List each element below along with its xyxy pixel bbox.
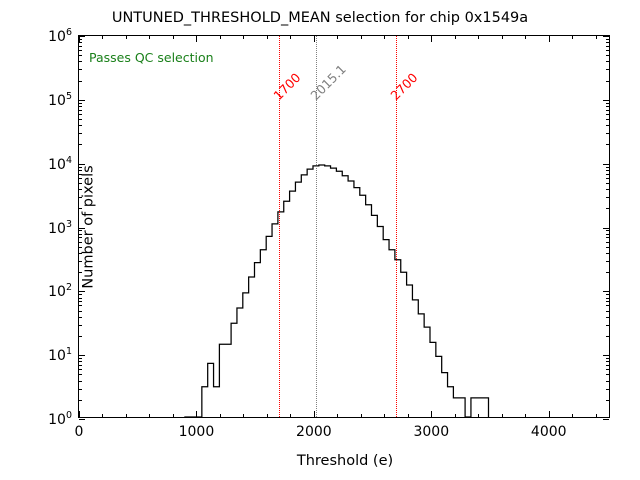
y-tick-minor-right [606,253,609,254]
y-tick-major [79,419,85,420]
y-tick-minor-right [606,39,609,40]
y-tick-minor [79,50,82,51]
y-tick-minor-right [606,119,609,120]
y-tick-minor [79,242,82,243]
x-tick-minor-top [173,36,174,39]
y-tick-minor [79,170,82,171]
y-tick-minor [79,230,82,231]
chart-title: UNTUNED_THRESHOLD_MEAN selection for chi… [0,10,640,26]
y-tick-minor [79,389,82,390]
y-tick-minor-right [606,242,609,243]
y-tick-minor-right [606,365,609,366]
y-tick-minor [79,81,82,82]
x-tick-label: 0 [75,424,84,440]
y-tick-minor [79,298,82,299]
x-tick-label: 1000 [179,424,215,440]
y-tick-label: 105 [48,91,72,109]
y-tick-minor [79,311,82,312]
y-tick-minor [79,369,82,370]
y-tick-minor [79,125,82,126]
y-tick-minor [79,189,82,190]
x-tick-minor [361,414,362,417]
x-tick-minor-top [267,36,268,39]
y-tick-label: 103 [48,219,72,237]
y-tick-minor-right [606,247,609,248]
x-tick-minor-top [596,36,597,39]
y-axis-label: Number of pixels [81,165,97,288]
y-tick-minor [79,317,82,318]
y-tick-minor-right [606,374,609,375]
y-tick-minor [79,358,82,359]
y-tick-minor [79,374,82,375]
y-tick-minor [79,305,82,306]
y-tick-minor-right [606,103,609,104]
y-tick-minor [79,133,82,134]
y-tick-minor-right [606,230,609,231]
x-tick-minor [102,414,103,417]
y-tick-minor-right [606,336,609,337]
x-tick-minor-top [478,36,479,39]
x-tick-minor [267,414,268,417]
y-tick-major-right [603,36,609,37]
y-tick-minor-right [606,305,609,306]
y-tick-major [79,355,85,356]
plot-axes: Number of pixels Threshold (e) 100101102… [78,35,610,418]
y-tick-minor [79,261,82,262]
x-tick-minor [596,414,597,417]
x-tick-minor [220,414,221,417]
y-tick-minor-right [606,389,609,390]
y-tick-minor-right [606,317,609,318]
y-tick-minor-right [606,178,609,179]
x-tick-minor-top [502,36,503,39]
y-tick-minor [79,234,82,235]
y-tick-minor [79,365,82,366]
y-tick-major [79,228,85,229]
y-tick-minor [79,55,82,56]
x-tick-minor [149,414,150,417]
y-tick-minor-right [606,358,609,359]
x-tick-minor [572,414,573,417]
y-tick-major-right [603,355,609,356]
y-tick-minor [79,336,82,337]
y-tick-minor-right [606,144,609,145]
y-tick-minor-right [606,167,609,168]
x-tick-label: 3000 [413,424,449,440]
y-tick-minor-right [606,208,609,209]
y-tick-minor-right [606,272,609,273]
y-tick-minor-right [606,369,609,370]
x-tick-major-top [431,36,432,42]
y-tick-minor-right [606,400,609,401]
x-tick-minor [126,414,127,417]
y-tick-minor-right [606,50,609,51]
y-tick-minor-right [606,234,609,235]
x-tick-minor [290,414,291,417]
x-tick-minor [384,414,385,417]
y-tick-minor-right [606,106,609,107]
x-tick-minor-top [361,36,362,39]
y-tick-minor-right [606,46,609,47]
x-tick-minor-top [408,36,409,39]
y-tick-minor [79,253,82,254]
y-tick-minor [79,272,82,273]
histogram-step-curve [79,36,609,417]
y-tick-label: 101 [48,346,72,364]
y-tick-minor-right [606,237,609,238]
x-tick-minor-top [290,36,291,39]
y-tick-minor [79,167,82,168]
y-tick-minor [79,381,82,382]
y-tick-minor [79,103,82,104]
y-tick-minor-right [606,114,609,115]
y-tick-minor [79,197,82,198]
x-tick-label: 4000 [531,424,567,440]
y-tick-minor-right [606,298,609,299]
y-tick-major-right [603,164,609,165]
y-tick-minor-right [606,294,609,295]
x-tick-major-top [79,36,80,42]
y-tick-minor [79,361,82,362]
x-tick-major [431,411,432,417]
x-tick-major [79,411,80,417]
x-tick-minor-top [149,36,150,39]
y-tick-minor-right [606,61,609,62]
y-tick-minor [79,42,82,43]
y-tick-minor [79,119,82,120]
y-tick-minor-right [606,361,609,362]
x-tick-minor-top [337,36,338,39]
x-tick-minor [408,414,409,417]
y-tick-minor [79,114,82,115]
x-tick-major-top [196,36,197,42]
y-tick-major-right [603,228,609,229]
x-tick-major-top [549,36,550,42]
y-tick-label: 104 [48,155,72,173]
y-tick-label: 106 [48,27,72,45]
x-tick-minor-top [525,36,526,39]
x-tick-minor-top [102,36,103,39]
y-tick-minor [79,247,82,248]
figure-canvas: UNTUNED_THRESHOLD_MEAN selection for chi… [0,0,640,480]
x-tick-minor-top [572,36,573,39]
x-tick-minor-top [243,36,244,39]
y-tick-minor-right [606,261,609,262]
y-tick-minor [79,237,82,238]
x-tick-minor [337,414,338,417]
y-tick-minor [79,61,82,62]
y-tick-minor-right [606,189,609,190]
y-tick-minor-right [606,110,609,111]
y-tick-minor-right [606,42,609,43]
y-tick-minor [79,301,82,302]
y-tick-minor-right [606,301,609,302]
y-tick-minor-right [606,197,609,198]
x-tick-minor-top [220,36,221,39]
x-tick-minor [525,414,526,417]
y-tick-major-right [603,291,609,292]
x-axis-label: Threshold (e) [79,453,611,469]
y-tick-minor-right [606,381,609,382]
y-tick-minor [79,144,82,145]
y-tick-minor [79,106,82,107]
y-tick-minor-right [606,125,609,126]
y-tick-minor-right [606,311,609,312]
x-tick-major [549,411,550,417]
y-tick-major-right [603,100,609,101]
y-tick-minor [79,46,82,47]
y-tick-minor [79,294,82,295]
x-tick-minor [502,414,503,417]
x-tick-major [196,411,197,417]
y-tick-minor-right [606,174,609,175]
x-tick-minor [478,414,479,417]
x-tick-minor-top [455,36,456,39]
x-tick-minor [243,414,244,417]
x-tick-minor [455,414,456,417]
y-tick-label: 100 [48,410,72,428]
y-tick-minor-right [606,55,609,56]
y-tick-minor [79,110,82,111]
y-tick-minor [79,69,82,70]
y-tick-major [79,100,85,101]
y-tick-minor-right [606,69,609,70]
y-tick-minor [79,174,82,175]
y-tick-major [79,291,85,292]
y-tick-major-right [603,419,609,420]
x-tick-minor-top [126,36,127,39]
y-tick-minor [79,325,82,326]
y-tick-label: 102 [48,283,72,301]
x-tick-minor-top [384,36,385,39]
y-tick-minor-right [606,170,609,171]
y-tick-minor-right [606,325,609,326]
y-tick-major [79,164,85,165]
y-tick-minor-right [606,81,609,82]
x-tick-minor [173,414,174,417]
qc-status-text: Passes QC selection [89,50,214,65]
y-tick-minor [79,208,82,209]
y-tick-minor [79,178,82,179]
y-tick-minor [79,400,82,401]
x-tick-label: 2000 [296,424,332,440]
y-tick-minor-right [606,183,609,184]
y-tick-minor-right [606,133,609,134]
y-tick-minor [79,183,82,184]
